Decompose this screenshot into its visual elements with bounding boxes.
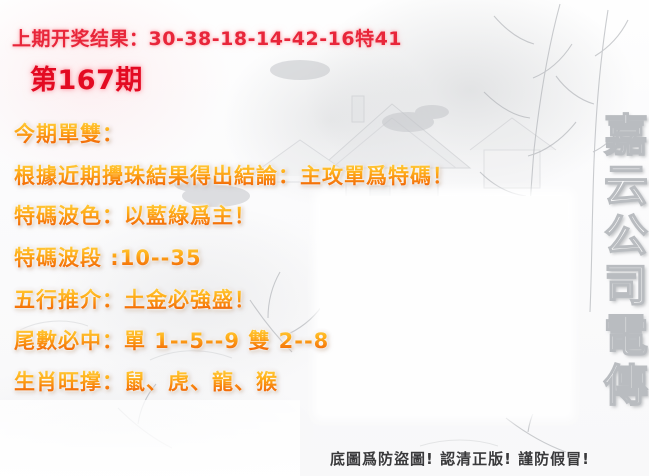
last-draw-result: 上期开奖结果：30-38-18-14-42-16特41 bbox=[12, 24, 402, 51]
tip-line-tail-numbers: 尾數必中：單 1--5--9 雙 2--8 bbox=[14, 325, 329, 355]
tip-line-odd-even: 今期單雙： bbox=[14, 118, 124, 148]
tip-line-five-elements: 五行推介：土金必強盛！ bbox=[14, 284, 256, 314]
anti-counterfeit-notice: 底圖爲防盜圖! 認清正版! 謹防假冒! bbox=[330, 448, 590, 469]
lower-left-fade-panel bbox=[0, 400, 300, 476]
tip-line-wave-range: 特碼波段 :10--35 bbox=[14, 242, 202, 272]
vertical-brand-watermark: 嘉云公司電傳 bbox=[579, 112, 643, 412]
tip-line-conclusion: 根據近期攪珠結果得出結論：主攻單爲特碼！ bbox=[14, 160, 454, 190]
tip-line-zodiac: 生肖旺撑：鼠、虎、龍、猴 bbox=[14, 366, 278, 396]
issue-number-label: 第167期 bbox=[30, 58, 143, 97]
lottery-tip-poster: 上期开奖结果：30-38-18-14-42-16特41 第167期 今期單雙： … bbox=[0, 0, 649, 476]
tip-line-wave-color: 特碼波色：以藍綠爲主！ bbox=[14, 200, 256, 230]
blank-content-panel bbox=[320, 196, 568, 414]
